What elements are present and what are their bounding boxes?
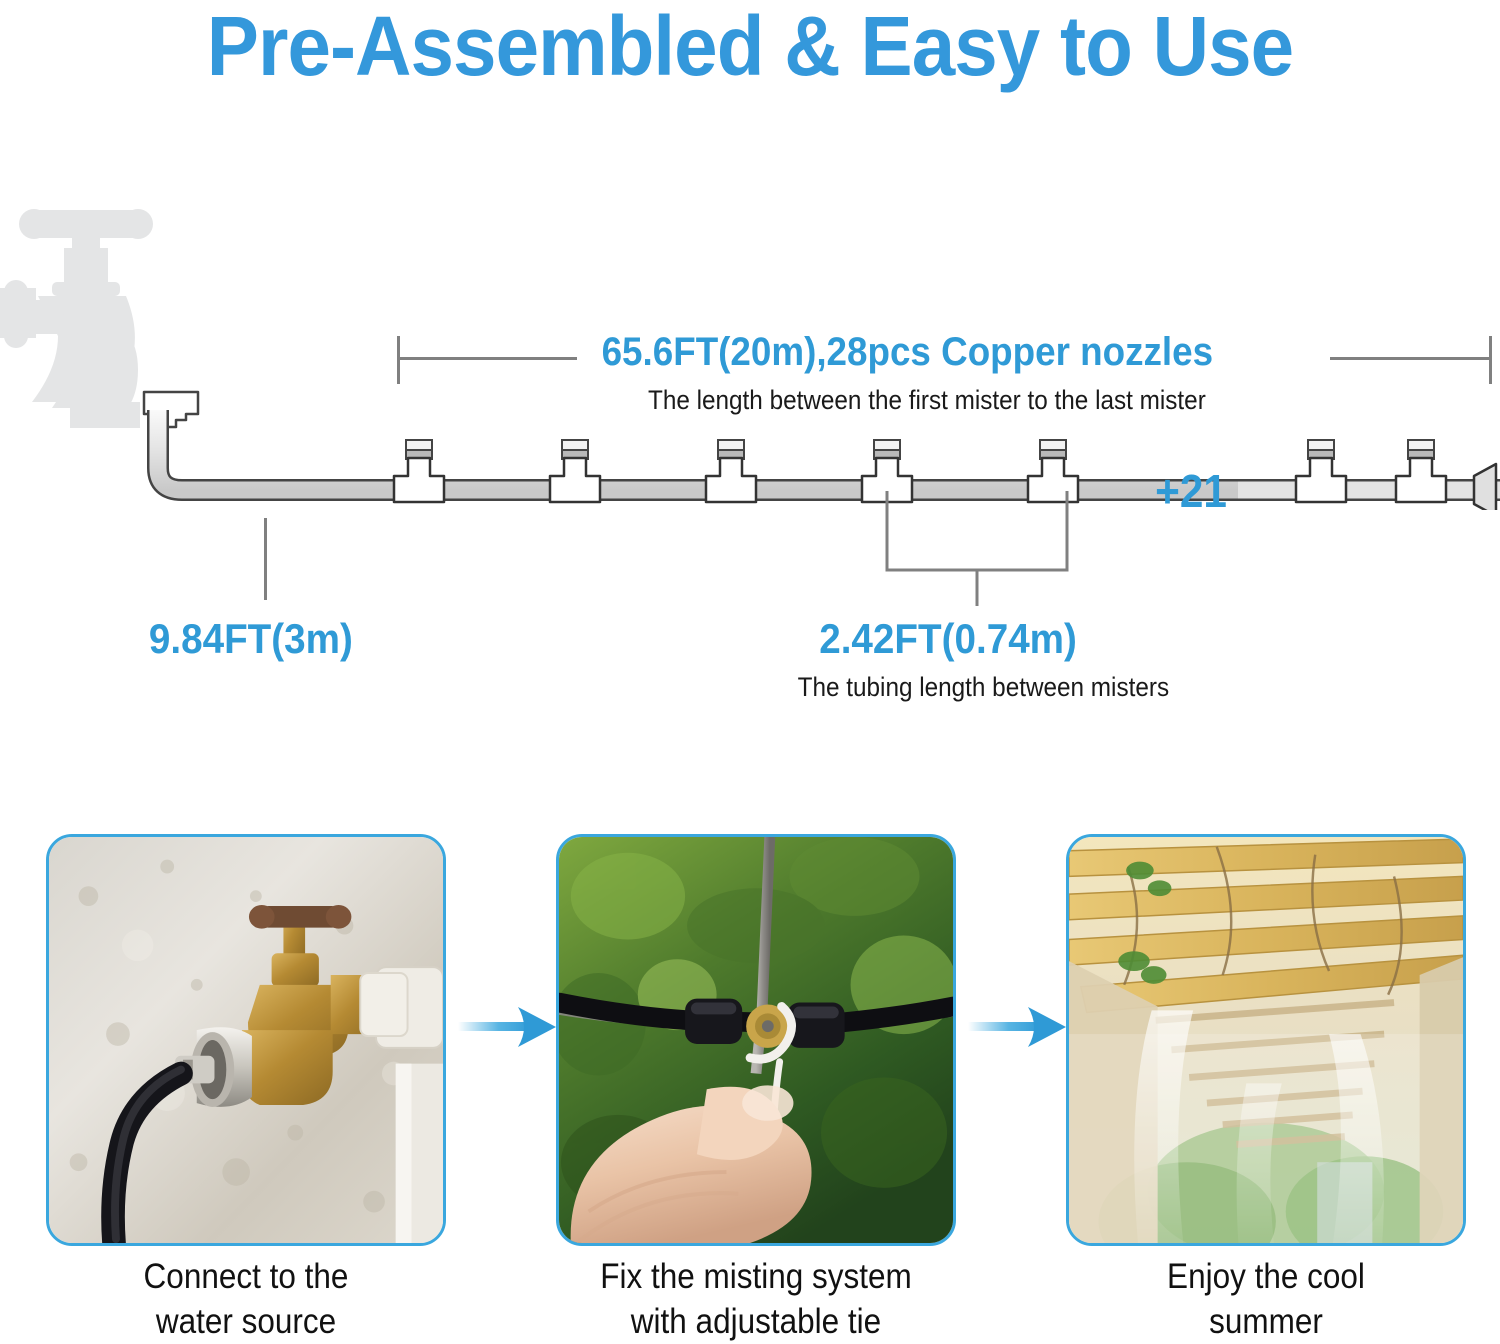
caption-line-2: water source — [39, 1299, 453, 1344]
tubing-continuation-group — [1238, 438, 1500, 510]
main-measure-label: 65.6FT(20m),28pcs Copper nozzles — [602, 330, 1213, 375]
dimension-tick-left — [397, 336, 400, 384]
caption-line-2: summer — [1059, 1299, 1473, 1344]
step-card-fix: Fix the misting system with adjustable t… — [556, 834, 956, 1246]
drop-measure-label: 9.84FT(3m) — [149, 615, 353, 663]
caption-line-1: Fix the misting system — [549, 1254, 963, 1299]
step-card-enjoy: Enjoy the cool summer — [1066, 834, 1466, 1246]
spacing-measure-label: 2.42FT(0.74m) — [819, 615, 1077, 663]
continuation-badge: +21 — [1155, 464, 1227, 518]
step-caption-enjoy: Enjoy the cool summer — [1059, 1254, 1473, 1344]
caption-line-2: with adjustable tie — [549, 1299, 963, 1344]
photo-frame — [46, 834, 446, 1246]
dimension-rule-left — [397, 357, 577, 360]
arrow-right-icon — [962, 997, 1072, 1057]
caption-line-1: Connect to the — [39, 1254, 453, 1299]
spacing-measure-description: The tubing length between misters — [798, 672, 1169, 703]
spacing-bracket — [884, 488, 1070, 608]
copper-nozzle-tee — [690, 438, 772, 506]
caption-line-1: Enjoy the cool — [1059, 1254, 1473, 1299]
arrow-right-icon — [452, 997, 562, 1057]
photo-faucet-connection — [49, 837, 443, 1243]
steps-row: Connect to the water source — [0, 834, 1500, 1344]
copper-nozzle-tee — [378, 438, 460, 506]
copper-nozzle-tee — [534, 438, 616, 506]
step-caption-connect: Connect to the water source — [39, 1254, 453, 1344]
step-card-connect: Connect to the water source — [46, 834, 446, 1246]
step-caption-fix: Fix the misting system with adjustable t… — [549, 1254, 963, 1344]
drop-measure-leader — [264, 518, 267, 600]
dimension-rule-right — [1330, 357, 1492, 360]
photo-frame — [556, 834, 956, 1246]
dimension-tick-right — [1489, 336, 1492, 384]
photo-pergola-mist — [1069, 837, 1463, 1243]
main-measure-description: The length between the first mister to t… — [648, 385, 1206, 416]
system-diagram: 65.6FT(20m),28pcs Copper nozzles The len… — [0, 0, 1500, 800]
photo-frame — [1066, 834, 1466, 1246]
photo-zip-tie-fix — [559, 837, 953, 1243]
